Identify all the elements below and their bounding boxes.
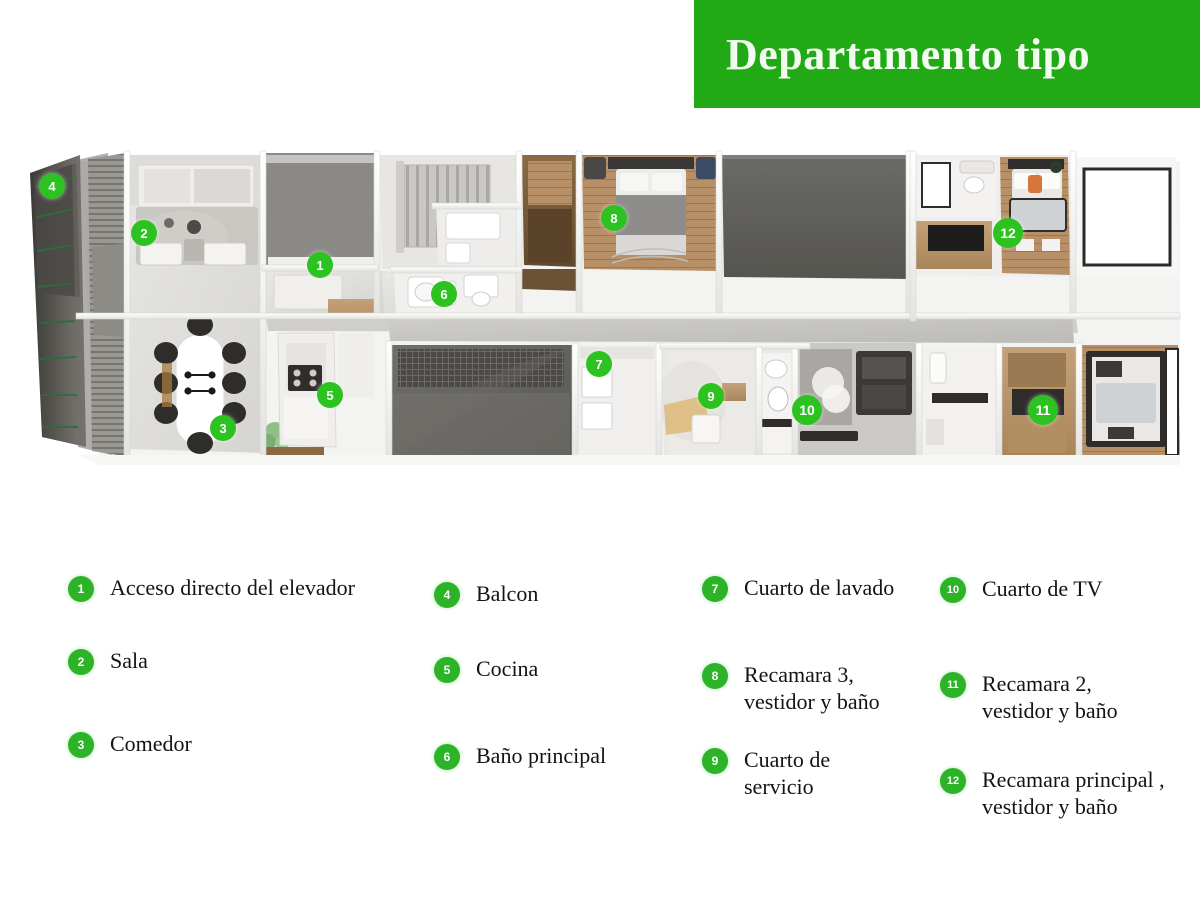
legend-badge-1: 1 — [68, 576, 94, 602]
title-banner: Departamento tipo — [694, 0, 1200, 108]
legend-item-9[interactable]: 9Cuarto de servicio — [702, 746, 940, 800]
legend-badge-7: 7 — [702, 576, 728, 602]
legend-item-12[interactable]: 12Recamara principal , vestidor y baño — [940, 766, 1190, 820]
legend-badge-12: 12 — [940, 768, 966, 794]
legend-badge-11: 11 — [940, 672, 966, 698]
legend-label-6: Baño principal — [476, 742, 606, 769]
plan-marker-2[interactable]: 2 — [131, 220, 157, 246]
plan-marker-1[interactable]: 1 — [307, 252, 333, 278]
legend-badge-5: 5 — [434, 657, 460, 683]
legend-label-3: Comedor — [110, 730, 192, 757]
legend-item-1[interactable]: 1Acceso directo del elevador — [68, 574, 428, 602]
legend-item-7[interactable]: 7Cuarto de lavado — [702, 574, 940, 602]
plan-marker-8[interactable]: 8 — [601, 205, 627, 231]
legend-badge-9: 9 — [702, 748, 728, 774]
plan-marker-11[interactable]: 11 — [1028, 395, 1058, 425]
plan-marker-7[interactable]: 7 — [586, 351, 612, 377]
plan-marker-12[interactable]: 12 — [993, 218, 1023, 248]
legend-badge-4: 4 — [434, 582, 460, 608]
legend-item-4[interactable]: 4Balcon — [434, 580, 704, 608]
legend-label-4: Balcon — [476, 580, 538, 607]
plan-marker-10[interactable]: 10 — [792, 395, 822, 425]
floor-plan-image — [16, 147, 1184, 469]
legend-item-6[interactable]: 6Baño principal — [434, 742, 704, 770]
legend-item-10[interactable]: 10Cuarto de TV — [940, 575, 1190, 603]
legend-label-9: Cuarto de servicio — [744, 746, 830, 800]
legend-label-10: Cuarto de TV — [982, 575, 1103, 602]
legend-label-8: Recamara 3, vestidor y baño — [744, 661, 880, 715]
legend-item-3[interactable]: 3Comedor — [68, 730, 428, 758]
plan-marker-9[interactable]: 9 — [698, 383, 724, 409]
legend-item-5[interactable]: 5Cocina — [434, 655, 704, 683]
legend-badge-3: 3 — [68, 732, 94, 758]
plan-marker-4[interactable]: 4 — [39, 173, 65, 199]
legend-label-5: Cocina — [476, 655, 538, 682]
floor-plan-container: 421681275391011 — [16, 147, 1184, 469]
plan-marker-3[interactable]: 3 — [210, 415, 236, 441]
legend-label-11: Recamara 2, vestidor y baño — [982, 670, 1118, 724]
legend-label-2: Sala — [110, 647, 148, 674]
plan-marker-5[interactable]: 5 — [317, 382, 343, 408]
legend-label-12: Recamara principal , vestidor y baño — [982, 766, 1165, 820]
page-title: Departamento tipo — [726, 29, 1090, 80]
legend-item-2[interactable]: 2 Sala — [68, 647, 428, 675]
legend-label-7: Cuarto de lavado — [744, 574, 894, 601]
legend-label-1: Acceso directo del elevador — [110, 574, 355, 601]
legend-badge-6: 6 — [434, 744, 460, 770]
plan-marker-6[interactable]: 6 — [431, 281, 457, 307]
legend-item-11[interactable]: 11Recamara 2, vestidor y baño — [940, 670, 1190, 724]
legend-item-8[interactable]: 8Recamara 3, vestidor y baño — [702, 661, 940, 715]
legend-badge-10: 10 — [940, 577, 966, 603]
legend-badge-2: 2 — [68, 649, 94, 675]
legend: 1Acceso directo del elevador2 Sala3Comed… — [0, 548, 1200, 848]
legend-badge-8: 8 — [702, 663, 728, 689]
